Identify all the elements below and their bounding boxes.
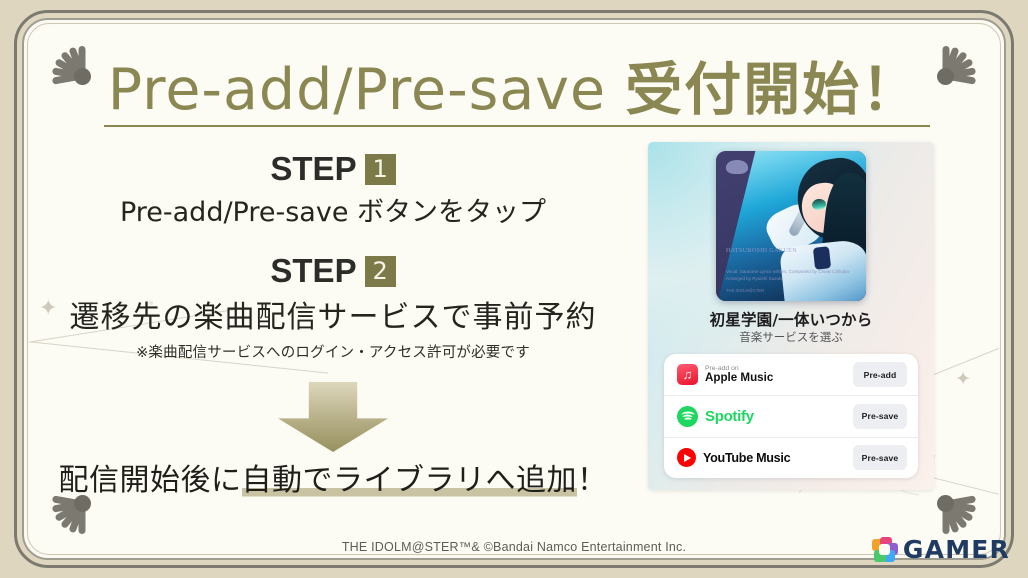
song-subtitle: 音楽サービスを選ぶ — [648, 329, 934, 345]
step-2-badge: 2 — [365, 256, 396, 287]
step-1-header: STEP 1 — [48, 150, 618, 188]
youtube-music-icon — [677, 448, 696, 467]
step-2-note: ※楽曲配信サービスへのログイン・アクセス許可が必要です — [48, 341, 618, 362]
youtube-music-name: YouTube Music — [703, 451, 790, 465]
result-highlight: 自動でライブラリへ追加 — [242, 463, 578, 498]
step-2-label: STEP — [270, 252, 356, 290]
page-title-jp: 受付開始！ — [625, 57, 920, 123]
gamer-logo[interactable]: GAMER — [872, 535, 1010, 564]
phone-mockup: HATSUBOSHI GAKUEN Vocal: Saotome Lyrics … — [648, 142, 934, 490]
sparkle-right-icon: ✦ — [955, 370, 971, 389]
spotify-info: Spotify — [677, 406, 853, 427]
service-row-youtube-music[interactable]: YouTube Music Pre-save — [664, 437, 918, 478]
apple-music-info: Pre-add on Apple Music — [677, 364, 853, 385]
gamer-wordmark: GAMER — [903, 535, 1010, 564]
result-line: 配信開始後に自動でライブラリへ追加！ — [48, 455, 618, 499]
album-credits: Vocal: Saotome Lyrics written, Composed … — [726, 269, 866, 283]
pre-save-button-spotify[interactable]: Pre-save — [853, 404, 907, 429]
title-divider — [104, 125, 930, 127]
result-text: 配信開始後に自動でライブラリへ追加！ — [59, 455, 608, 499]
steps-column: STEP 1 Pre-add/Pre-save ボタンをタップ STEP 2 遷… — [48, 150, 618, 452]
spotify-icon — [677, 406, 698, 427]
step-1-label: STEP — [270, 150, 356, 188]
apple-music-name: Apple Music — [705, 372, 773, 385]
spotify-name: Spotify — [705, 408, 754, 425]
down-arrow-icon — [278, 382, 388, 452]
pre-save-button-youtube-music[interactable]: Pre-save — [853, 445, 907, 470]
service-list: Pre-add on Apple Music Pre-add Spotify P… — [664, 354, 918, 478]
result-suffix: ！ — [577, 463, 608, 498]
step-1-description: Pre-add/Pre-save ボタンをタップ — [48, 190, 618, 229]
pre-add-button-apple-music[interactable]: Pre-add — [853, 362, 907, 387]
page-title-en: Pre-add/Pre-save — [108, 57, 606, 123]
step-2-description: 遷移先の楽曲配信サービスで事前予約 — [48, 292, 618, 336]
page-title: Pre-add/Pre-save 受付開始！ — [0, 44, 1028, 126]
step-2-header: STEP 2 — [48, 252, 618, 290]
album-series-caption: HATSUBOSHI GAKUEN — [726, 247, 797, 255]
album-crest-icon — [726, 160, 748, 174]
apple-music-icon — [677, 364, 698, 385]
apple-music-text: Pre-add on Apple Music — [705, 365, 773, 385]
album-character-ribbon — [813, 246, 831, 270]
service-row-spotify[interactable]: Spotify Pre-save — [664, 395, 918, 436]
result-prefix: 配信開始後に — [59, 463, 242, 498]
service-row-apple-music[interactable]: Pre-add on Apple Music Pre-add — [664, 354, 918, 395]
slide-root: ✦ ✦ — [0, 0, 1028, 578]
gamer-mark-icon — [872, 537, 898, 563]
step-1-badge: 1 — [365, 154, 396, 185]
album-tiny-text: THE IDOLM@STER — [726, 288, 764, 293]
song-title: 初星学園/一体いつから — [648, 308, 934, 330]
down-arrow-wrap — [48, 382, 618, 452]
youtube-music-info: YouTube Music — [677, 448, 853, 467]
album-artwork: HATSUBOSHI GAKUEN Vocal: Saotome Lyrics … — [716, 151, 866, 301]
